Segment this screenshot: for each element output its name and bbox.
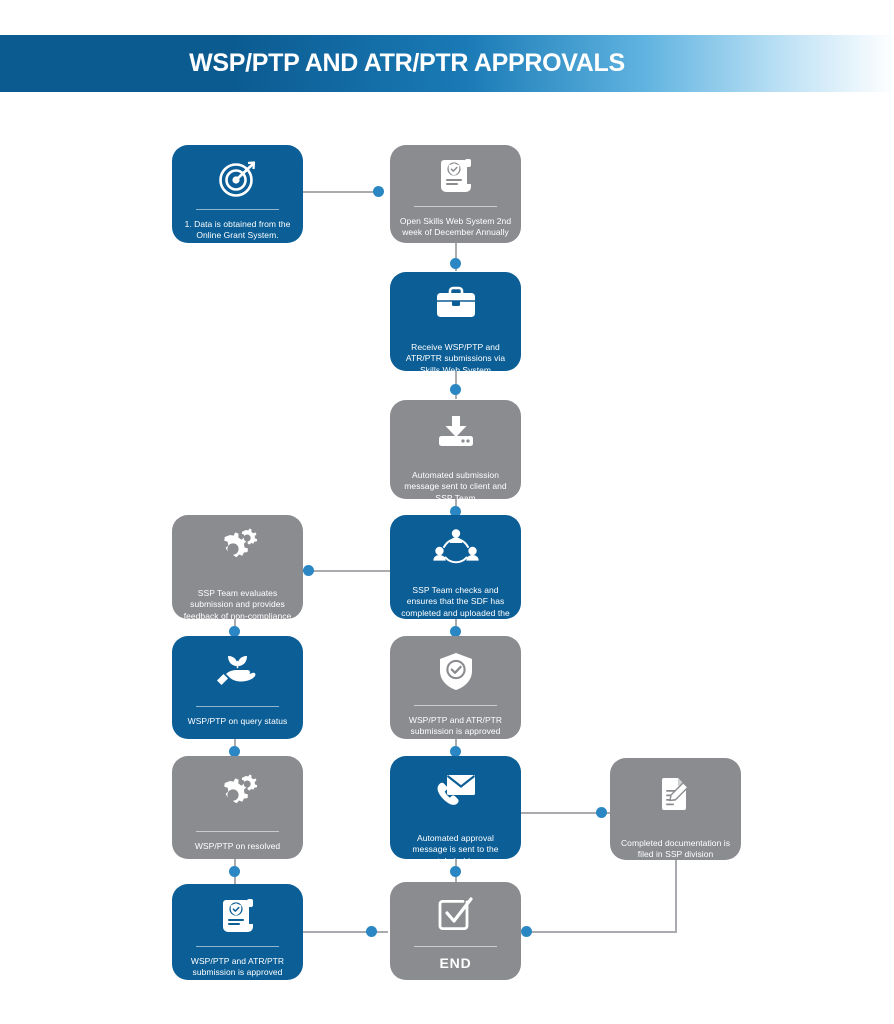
flow-node-automated-approval-message[interactable]: Automated approval message is sent to th… (390, 756, 521, 859)
flow-node-receive-submissions[interactable]: Receive WSP/PTP and ATR/PTR submissions … (390, 272, 521, 371)
connector-dot (596, 807, 607, 818)
flow-node-label: 1. Data is obtained from the Online Gran… (172, 219, 303, 242)
certificate-scroll-icon (172, 897, 303, 935)
checkbox-checked-icon (390, 896, 521, 934)
flow-node-label: SSP Team checks and ensures that the SDF… (390, 585, 521, 619)
node-divider (196, 706, 280, 707)
flow-node-end[interactable]: END (390, 882, 521, 980)
connector-dot (450, 258, 461, 269)
gears-icon (172, 774, 303, 814)
connector-line-horizontal (527, 931, 677, 933)
connector-dot (450, 866, 461, 877)
flow-node-label: SSP Team evaluates submission and provid… (172, 588, 303, 619)
flow-node-label: Automated approval message is sent to th… (390, 833, 521, 859)
page-title: WSP/PTP AND ATR/PTR APPROVALS (189, 49, 625, 78)
node-divider (196, 946, 280, 947)
shield-check-icon (390, 652, 521, 692)
target-icon (172, 159, 303, 199)
node-divider (196, 209, 280, 210)
team-network-icon (390, 528, 521, 566)
flow-node-label: WSP/PTP and ATR/PTR submission is approv… (390, 715, 521, 738)
document-pen-icon (610, 776, 741, 812)
flow-node-label: END (431, 954, 481, 973)
node-divider (414, 705, 498, 706)
connector-dot (229, 866, 240, 877)
flow-node-label: Open Skills Web System 2nd week of Decem… (390, 216, 521, 239)
flow-node-wsp-ptp-resolved[interactable]: WSP/PTP on resolved (172, 756, 303, 859)
page-header-banner: WSP/PTP AND ATR/PTR APPROVALS (0, 35, 894, 92)
briefcase-icon (390, 286, 521, 320)
gears-icon (172, 528, 303, 568)
hand-leaf-icon (172, 654, 303, 688)
connector-line-vertical (675, 860, 677, 932)
connector-line (303, 570, 393, 572)
connector-dot (521, 926, 532, 937)
node-divider (414, 946, 498, 947)
connector-dot (450, 384, 461, 395)
flow-node-open-skills-web-system[interactable]: Open Skills Web System 2nd week of Decem… (390, 145, 521, 243)
mail-phone-icon (390, 772, 521, 810)
flow-node-label: WSP/PTP on resolved (186, 841, 289, 852)
flow-node-submission-approved-lower[interactable]: WSP/PTP and ATR/PTR submission is approv… (172, 884, 303, 980)
connector-dot (366, 926, 377, 937)
flow-node-label: WSP/PTP and ATR/PTR submission is approv… (172, 956, 303, 979)
flow-node-automated-submission-message[interactable]: Automated submission message sent to cli… (390, 400, 521, 499)
flow-node-completed-documentation-filed[interactable]: Completed documentation is filed in SSP … (610, 758, 741, 860)
flow-node-ssp-team-evaluates[interactable]: SSP Team evaluates submission and provid… (172, 515, 303, 619)
flow-node-label: Automated submission message sent to cli… (390, 470, 521, 499)
certificate-scroll-icon (390, 157, 521, 195)
flow-node-label: Receive WSP/PTP and ATR/PTR submissions … (390, 342, 521, 371)
flow-node-wsp-ptp-query-status[interactable]: WSP/PTP on query status (172, 636, 303, 739)
connector-line (303, 191, 383, 193)
connector-dot (373, 186, 384, 197)
connector-dot (303, 565, 314, 576)
flow-node-submission-approved-upper[interactable]: WSP/PTP and ATR/PTR submission is approv… (390, 636, 521, 739)
download-inbox-icon (390, 416, 521, 448)
flow-node-ssp-team-checks[interactable]: SSP Team checks and ensures that the SDF… (390, 515, 521, 619)
node-divider (196, 831, 280, 832)
flowchart-page: WSP/PTP AND ATR/PTR APPROVALS (0, 0, 894, 1024)
node-divider (414, 206, 498, 207)
flow-node-label: WSP/PTP on query status (179, 716, 297, 727)
flow-node-label: Completed documentation is filed in SSP … (610, 838, 741, 860)
flow-node-data-obtained[interactable]: 1. Data is obtained from the Online Gran… (172, 145, 303, 243)
